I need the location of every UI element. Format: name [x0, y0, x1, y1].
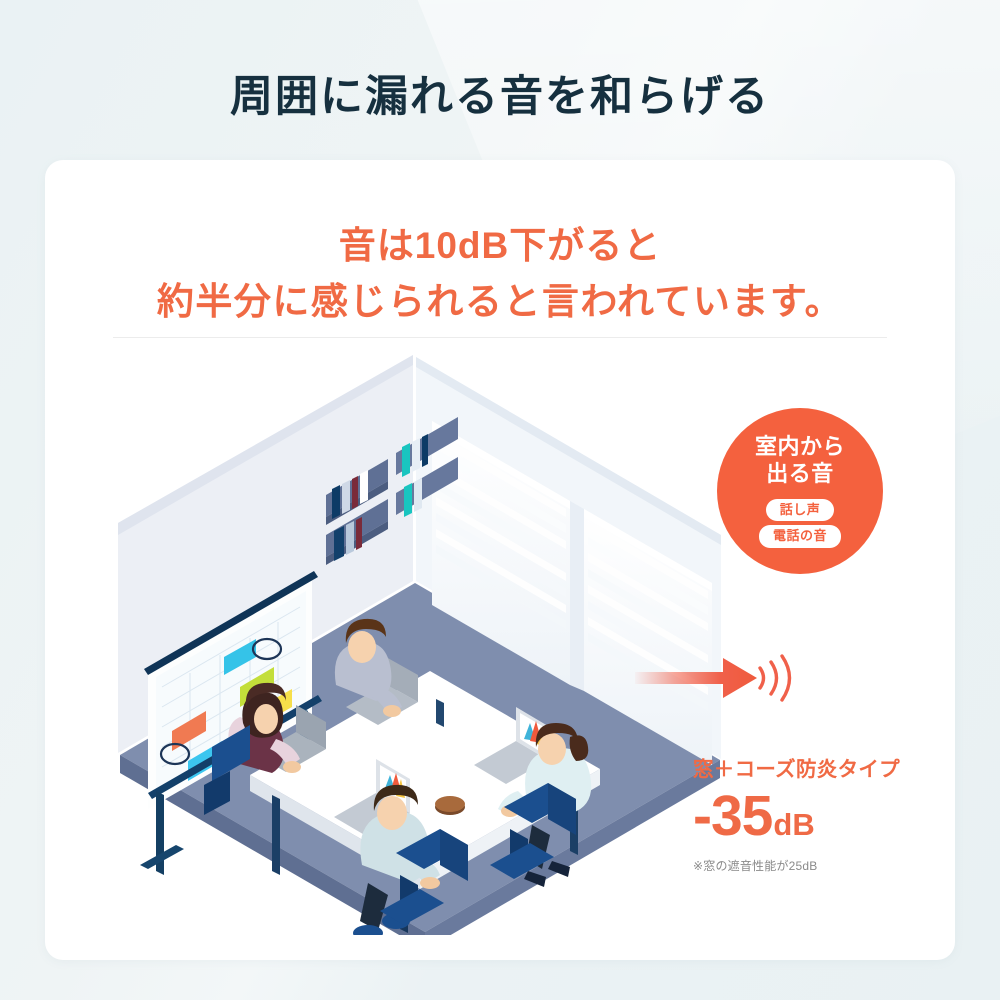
readout-value: -35dB: [693, 788, 943, 845]
readout-unit: dB: [773, 807, 814, 842]
headline-divider: [113, 337, 887, 338]
page-background: 周囲に漏れる音を和らげる 音は10dB下がると 約半分に感じられると言われていま…: [0, 0, 1000, 1000]
headline-line-2: 約半分に感じられると言われています。: [45, 274, 955, 330]
performance-readout: 窓＋コーズ防炎タイプ -35dB ※窓の遮音性能が25dB: [693, 752, 943, 874]
indoor-sound-badge: 室内から 出る音 話し声 電話の音: [717, 408, 883, 574]
content-card: 音は10dB下がると 約半分に感じられると言われています。: [45, 160, 955, 960]
office-illustration: [100, 355, 740, 935]
window-mullion: [570, 501, 584, 691]
sound-leak-indicator: [635, 646, 795, 710]
badge-title-line-1: 室内から: [755, 434, 845, 461]
badge-title-line-2: 出る音: [755, 461, 845, 488]
readout-number: -35: [693, 784, 772, 848]
badge-pill-voice: 話し声: [766, 499, 835, 522]
readout-label: 窓＋コーズ防炎タイプ: [693, 752, 943, 782]
headline-line-1: 音は10dB下がると: [45, 218, 955, 274]
readout-note: ※窓の遮音性能が25dB: [693, 857, 943, 874]
page-title: 周囲に漏れる音を和らげる: [0, 62, 1000, 124]
sound-wave-icon: [760, 656, 790, 700]
right-arrow-icon: [635, 658, 757, 698]
badge-title: 室内から 出る音: [755, 434, 845, 488]
badge-pill-phone: 電話の音: [759, 525, 841, 548]
headline: 音は10dB下がると 約半分に感じられると言われています。: [45, 218, 955, 330]
